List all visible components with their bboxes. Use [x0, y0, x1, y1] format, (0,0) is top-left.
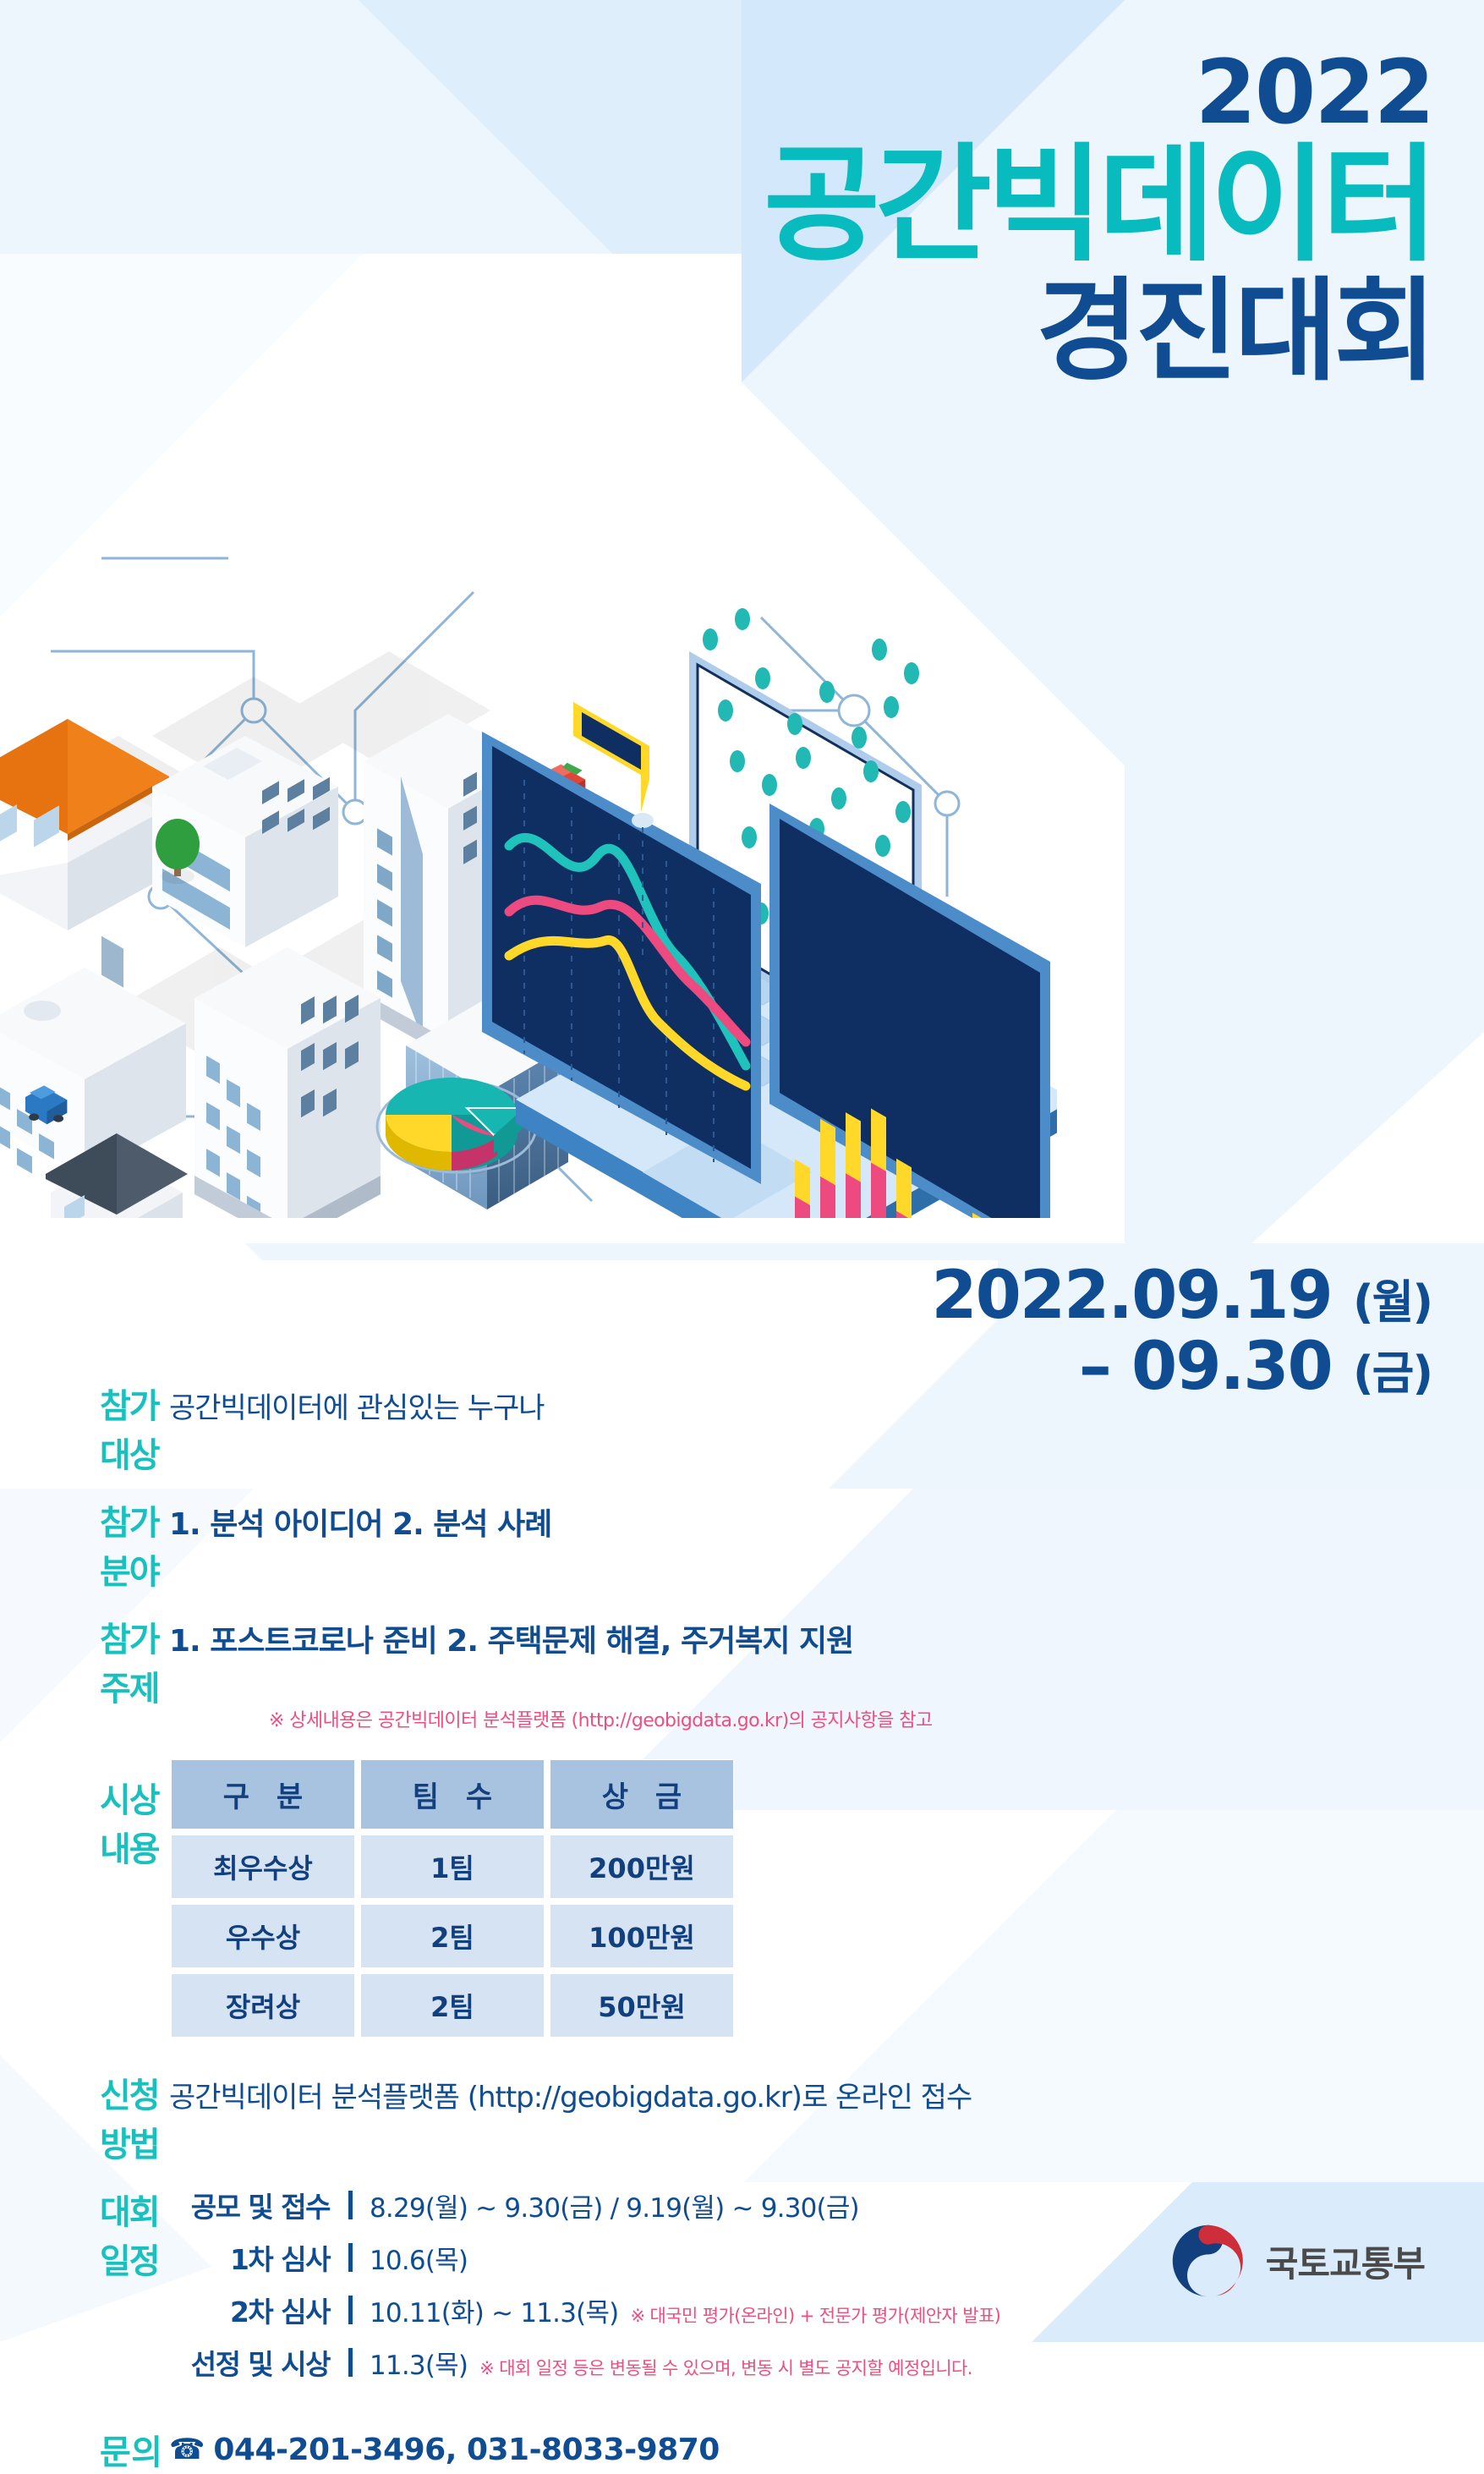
schedule-divider: [348, 2243, 353, 2272]
prize-header-amount: 상 금: [550, 1759, 734, 1829]
prize-header-category: 구 분: [171, 1759, 355, 1829]
contact-phone-numbers: 044-201-3496, 031-8033-9870: [213, 2433, 720, 2467]
label-prize: 시상내용: [0, 1754, 169, 1871]
isometric-city-illustration: [0, 457, 1057, 1218]
phone-icon: ☎: [169, 2433, 205, 2466]
prize-header-teams: 팀 수: [360, 1759, 545, 1829]
info-row-apply: 신청방법 공간빅데이터 분석플랫폼 (http://geobigdata.go.…: [0, 2068, 1484, 2166]
schedule-value: 11.3(목): [370, 2344, 468, 2382]
prize-table-header-row: 구 분 팀 수 상 금: [171, 1759, 734, 1829]
prize-cell-teams: 2팀: [360, 1973, 545, 2038]
prize-cell-amount: 100만원: [550, 1904, 734, 1968]
prize-cell-category: 장려상: [171, 1973, 355, 2038]
schedule-name: 1차 심사: [169, 2237, 348, 2278]
info-row-field: 참가분야 1. 분석 아이디어 2. 분석 사례: [0, 1495, 1484, 1594]
poster-title-block: 2022 공간빅데이터 경진대회: [764, 51, 1433, 392]
prize-cell-amount: 50만원: [550, 1973, 734, 2038]
info-row-topic: 참가주제 1. 포스트코로나 준비 2. 주택문제 해결, 주거복지 지원: [0, 1612, 1484, 1710]
table-row: 최우수상 1팀 200만원: [171, 1835, 734, 1899]
schedule-name: 공모 및 접수: [169, 2185, 348, 2225]
event-date-line-1: 2022.09.19 (월): [931, 1260, 1432, 1331]
prize-cell-category: 최우수상: [171, 1835, 355, 1899]
ministry-logo: 국토교통부: [1168, 2220, 1425, 2301]
schedule-divider: [348, 2191, 353, 2219]
prize-cell-category: 우수상: [171, 1904, 355, 1968]
schedule-note: ※ 대회 일정 등은 변동될 수 있으며, 변동 시 별도 공지할 예정입니다.: [479, 2355, 972, 2380]
schedule-divider: [348, 2296, 353, 2324]
poster-title-main: 공간빅데이터: [764, 140, 1433, 272]
schedule-value: 10.11(화) ~ 11.3(목): [370, 2291, 618, 2329]
schedule-note: ※ 대국민 평가(온라인) + 전문가 평가(제안자 발표): [630, 2302, 1000, 2328]
prize-cell-teams: 1팀: [360, 1835, 545, 1899]
schedule-name: 2차 심사: [169, 2290, 348, 2330]
prize-cell-teams: 2팀: [360, 1904, 545, 1968]
schedule-divider: [348, 2348, 353, 2377]
note-topic: ※ 상세내용은 공간빅데이터 분석플랫폼 (http://geobigdata.…: [269, 1705, 1484, 1732]
schedule-name: 선정 및 시상: [169, 2342, 348, 2383]
schedule-row: 선정 및 시상 11.3(목) ※ 대회 일정 등은 변동될 수 있으며, 변동…: [169, 2342, 1484, 2383]
schedule-value: 10.6(목): [370, 2239, 468, 2277]
taegeuk-emblem-icon: [1168, 2220, 1249, 2301]
value-apply: 공간빅데이터 분석플랫폼 (http://geobigdata.go.kr)로 …: [169, 2074, 972, 2115]
label-target: 참가대상: [0, 1379, 169, 1477]
label-apply: 신청방법: [0, 2068, 169, 2166]
label-schedule: 대회일정: [0, 2185, 169, 2394]
table-row: 우수상 2팀 100만원: [171, 1904, 734, 1968]
label-topic: 참가주제: [0, 1612, 169, 1710]
info-row-target: 참가대상 공간빅데이터에 관심있는 누구나: [0, 1379, 1484, 1477]
label-contact: 문 의: [0, 2425, 169, 2474]
value-target: 공간빅데이터에 관심있는 누구나: [169, 1385, 545, 1426]
prize-table: 구 분 팀 수 상 금 최우수상 1팀 200만원 우수상 2팀 100만원 장…: [166, 1754, 739, 2043]
poster-title-sub: 경진대회: [764, 273, 1433, 392]
value-field: 1. 분석 아이디어 2. 분석 사례: [169, 1500, 551, 1544]
event-date-1: 2022.09.19: [931, 1258, 1331, 1334]
label-contact-b: 의: [131, 2425, 162, 2474]
schedule-row: 공모 및 접수 8.29(월) ~ 9.30(금) / 9.19(월) ~ 9.…: [169, 2185, 1484, 2225]
value-topic: 1. 포스트코로나 준비 2. 주택문제 해결, 주거복지 지원: [169, 1616, 853, 1660]
contact-section: 문 의 ☎ 044-201-3496, 031-8033-9870: [0, 2425, 1484, 2474]
table-row: 장려상 2팀 50만원: [171, 1973, 734, 2038]
prize-table-section: 시상내용 구 분 팀 수 상 금 최우수상 1팀 200만원 우수상 2팀 1: [0, 1754, 1484, 2043]
poster-content: 참가대상 공간빅데이터에 관심있는 누구나 참가분야 1. 분석 아이디어 2.…: [0, 1379, 1484, 2474]
label-contact-a: 문: [100, 2425, 131, 2474]
ministry-name: 국토교통부: [1266, 2235, 1425, 2287]
poster-year: 2022: [764, 51, 1433, 134]
event-date-1-dow: (월): [1353, 1275, 1432, 1329]
schedule-value: 8.29(월) ~ 9.30(금) / 9.19(월) ~ 9.30(금): [370, 2186, 859, 2224]
prize-cell-amount: 200만원: [550, 1835, 734, 1899]
label-field: 참가분야: [0, 1495, 169, 1594]
